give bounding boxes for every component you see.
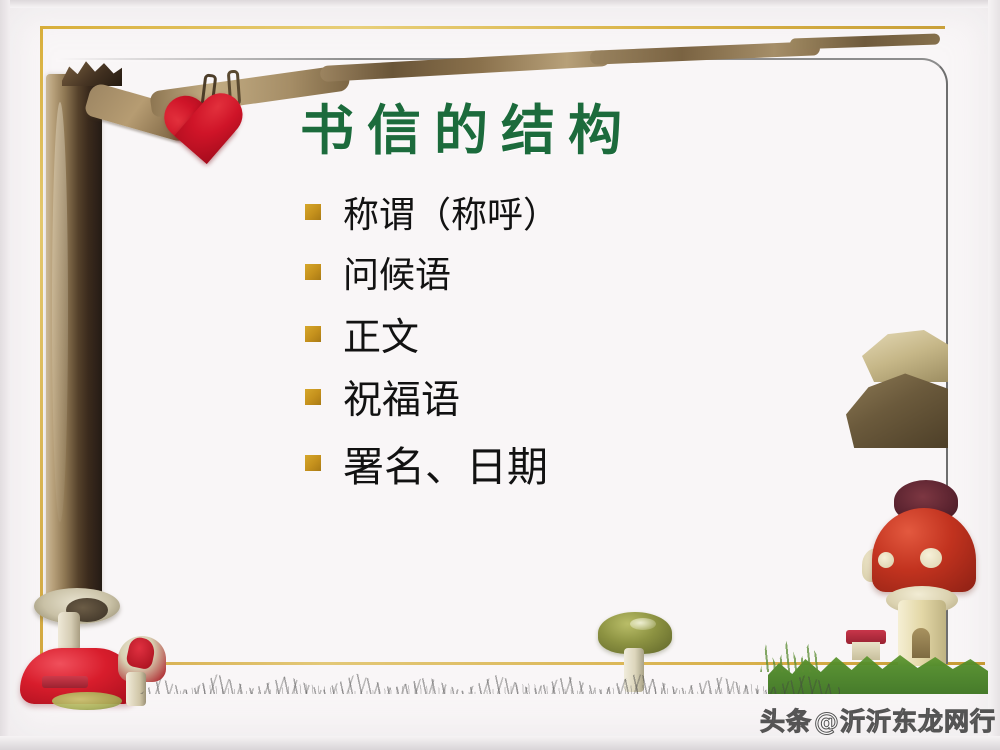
watermark-handle: @沂沂东龙网行	[814, 707, 996, 736]
list-item-label: 署名、日期	[343, 433, 548, 493]
list-item-label: 问候语	[343, 246, 451, 298]
bullet-square-icon	[305, 326, 321, 342]
presentation-slide: 书信的结构 称谓（称呼） 问候语 正文 祝福语 署名、日期	[0, 0, 1000, 750]
bullet-square-icon	[305, 204, 321, 220]
watermark-platform: 头条	[760, 707, 812, 736]
structure-bullet-list: 称谓（称呼） 问候语 正文 祝福语 署名、日期	[305, 186, 559, 501]
list-item: 称谓（称呼）	[305, 186, 559, 238]
bullet-square-icon	[305, 389, 321, 405]
list-item-label: 称谓（称呼）	[343, 186, 559, 238]
watermark: 头条@沂沂东龙网行	[760, 702, 996, 738]
bullet-square-icon	[305, 455, 321, 471]
slide-title: 书信的结构	[300, 86, 635, 165]
list-item: 问候语	[305, 246, 559, 298]
list-item-label: 正文	[343, 306, 419, 361]
list-item: 祝福语	[305, 369, 559, 425]
bullet-square-icon	[305, 264, 321, 280]
list-item: 正文	[305, 306, 559, 361]
list-item-label: 祝福语	[343, 369, 460, 425]
slide-content: 书信的结构 称谓（称呼） 问候语 正文 祝福语 署名、日期	[0, 0, 1000, 750]
list-item: 署名、日期	[305, 433, 559, 493]
